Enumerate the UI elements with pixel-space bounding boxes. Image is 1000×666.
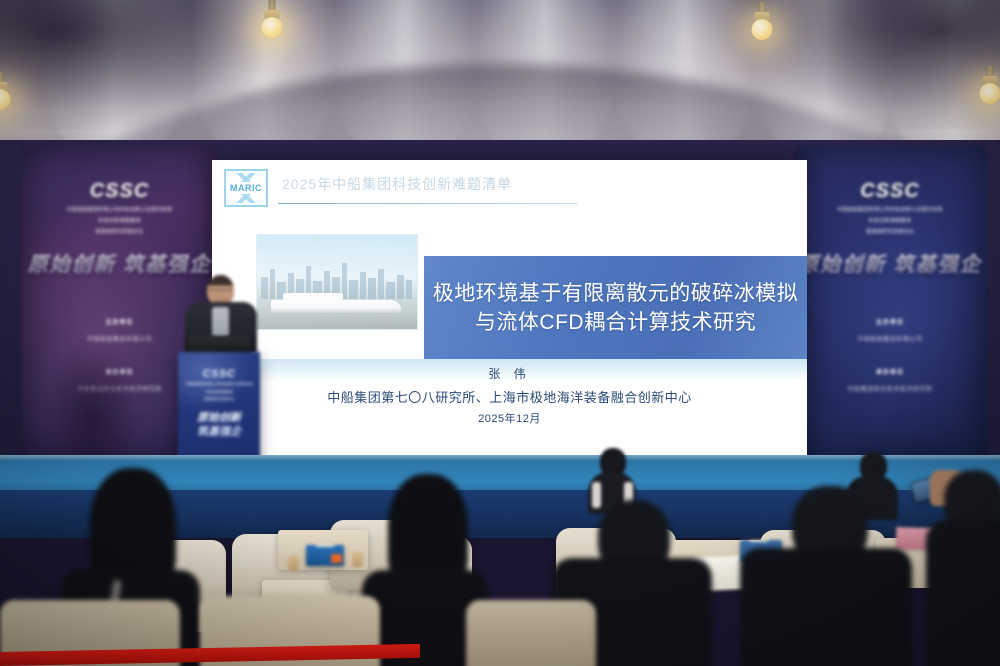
backdrop-left-slogan: 原始创新 筑基强企 — [22, 248, 217, 277]
backdrop-right-organizer-value: 中船集团综合技术经济研究院 — [794, 384, 986, 393]
slide-affiliation: 中船集团第七〇八研究所、上海市极地海洋装备融合创新中心 — [212, 387, 807, 406]
backdrop-panel-right: CSSC 中国船舶集团有限公司科技创新大会暨科技周 科技创新难题路演 暨基础研究… — [794, 146, 986, 462]
backdrop-right-organizer-label: 承办单位 — [794, 367, 986, 376]
shadow-silhouette — [32, 292, 152, 462]
slide-title-band: 极地环境基于有限离散元的破碎冰模拟与流体CFD耦合计算技术研究 — [424, 256, 807, 359]
ceiling-drapery — [0, 0, 1000, 152]
glasses-icon — [208, 289, 233, 295]
slide-header-rule — [278, 203, 578, 204]
backdrop-left-subtitle-2: 科技创新难题路演 — [22, 217, 217, 225]
cssc-logo-left: CSSC — [22, 180, 217, 203]
podium-subtitle-1: 中国船舶集团有限公司科技创新大会暨科技周 — [178, 382, 260, 388]
presentation-screen: MARIC 2025年中船集团科技创新难题清单 — [212, 160, 807, 460]
slide-author: 张 伟 — [212, 365, 807, 382]
maric-logo-text: MARIC — [230, 183, 262, 193]
backdrop-right-host-value: 中国船舶集团有限公司 — [794, 334, 986, 343]
backdrop-right-subtitle-1: 中国船舶集团有限公司科技创新大会暨科技周 — [794, 206, 986, 214]
armchair-foreground-3 — [466, 600, 596, 666]
paper-cup-1 — [288, 556, 299, 571]
backdrop-right-slogan: 原始创新 筑基强企 — [794, 248, 986, 277]
slide-main-title: 极地环境基于有限离散元的破碎冰模拟与流体CFD耦合计算技术研究 — [424, 279, 807, 337]
podium-subtitle-2: 科技创新难题路演 — [178, 390, 260, 396]
backdrop-right-subtitle-3: 暨基础研究高端论坛 — [794, 228, 986, 236]
ship-hull — [271, 300, 401, 313]
audience-person-back-1 — [588, 448, 636, 508]
backdrop-left-subtitle-1: 中国船舶集团有限公司科技创新大会暨科技周 — [22, 206, 217, 214]
slide-footer: 张 伟 中船集团第七〇八研究所、上海市极地海洋装备融合创新中心 2025年12月 — [212, 365, 807, 426]
slide-header: MARIC 2025年中船集团科技创新难题清单 — [212, 160, 807, 216]
maric-logo-icon: MARIC — [224, 169, 268, 207]
podium-subtitle-3: 暨基础研究高端论坛 — [178, 397, 260, 403]
backdrop-right-subtitle-2: 科技创新难题路演 — [794, 217, 986, 225]
tissue-box — [306, 545, 344, 566]
cssc-logo-right: CSSC — [794, 180, 986, 203]
ship-photo — [256, 234, 418, 330]
slide-header-title: 2025年中船集团科技创新难题清单 — [282, 174, 512, 194]
water-surface — [257, 313, 417, 329]
slide-date: 2025年12月 — [212, 410, 807, 426]
conference-photo-scene: CSSC 中国船舶集团有限公司科技创新大会暨科技周 科技创新难题路演 暨基础研究… — [0, 0, 1000, 666]
audience-person-front-far-right — [926, 470, 1000, 666]
backdrop-left-subtitle-3: 暨基础研究高端论坛 — [22, 228, 217, 236]
audience-person-front-right — [740, 486, 912, 666]
speaker-shirt — [212, 307, 229, 337]
backdrop-right-host-label: 主办单位 — [794, 317, 986, 326]
